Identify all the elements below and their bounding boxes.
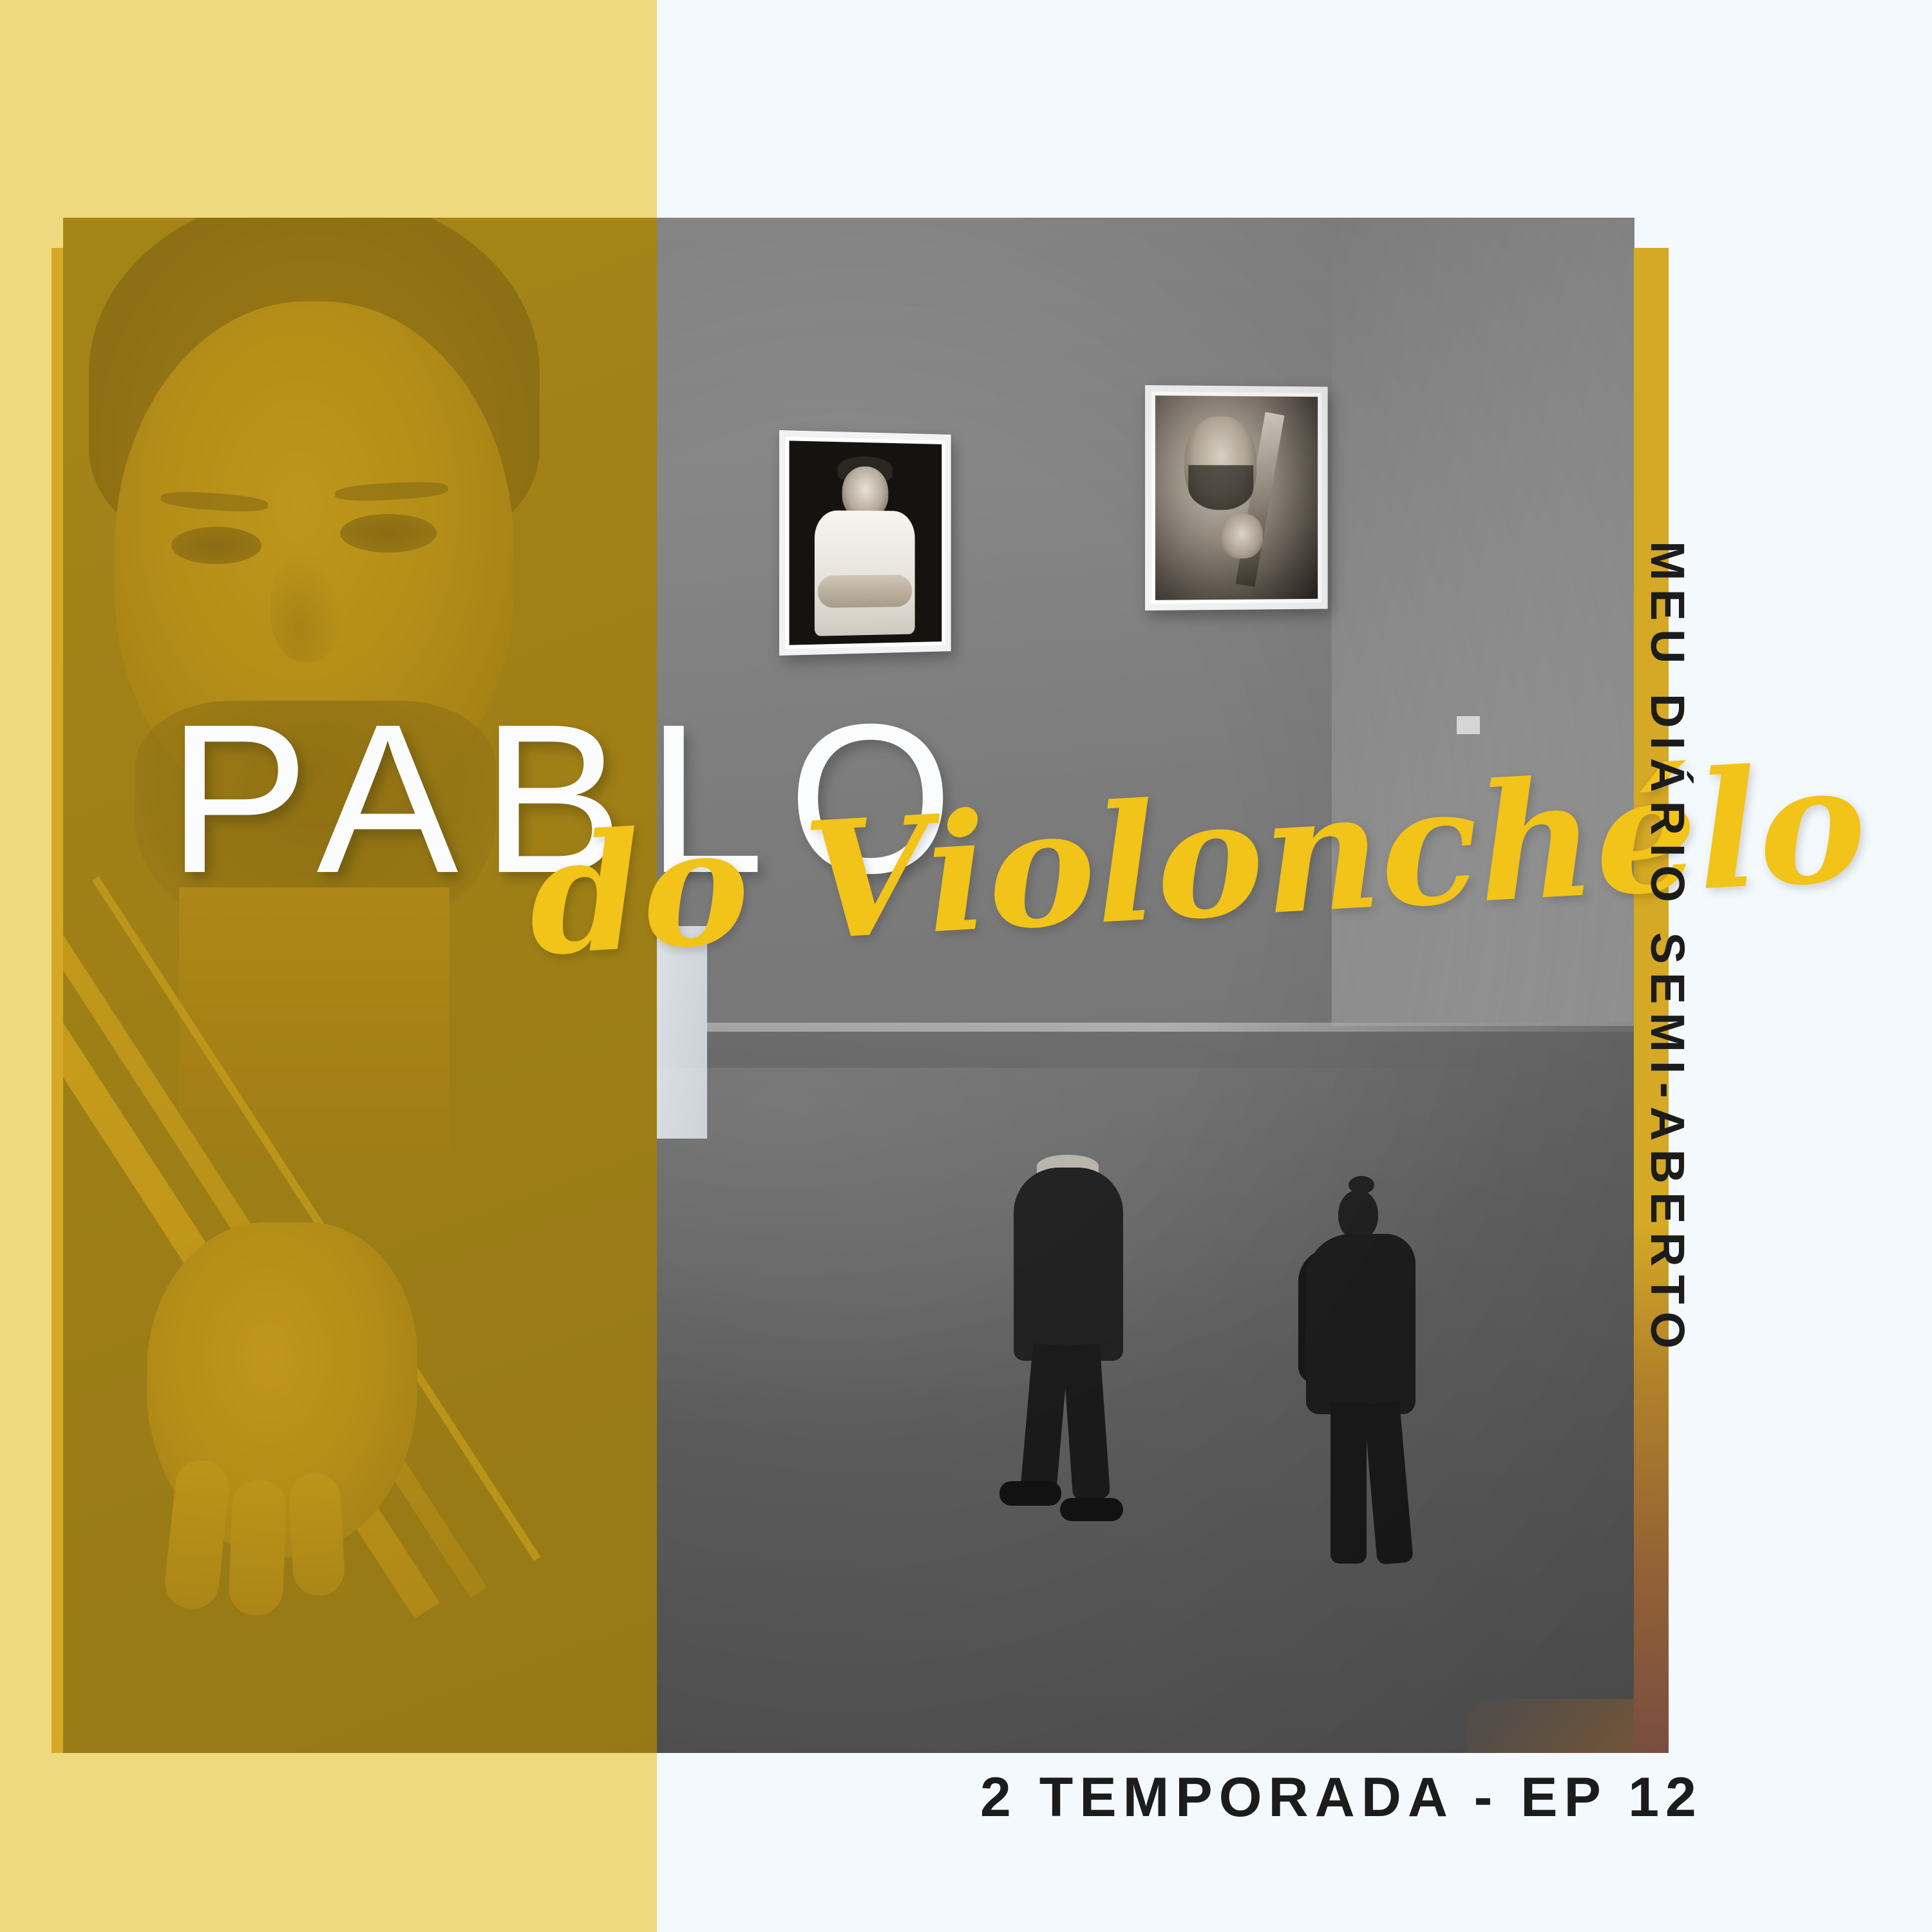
episode-label: 2 TEMPORADA - EP 12 [980, 1766, 1703, 1830]
gallery-photo [63, 218, 1634, 1753]
duotone-gold-wash [63, 218, 657, 1753]
duotone-portrait-overlay [63, 218, 657, 1753]
photo-corner-warm-tint [1467, 1699, 1634, 1753]
vertical-tagline: MEU DIÁRIO SEMI-ABERTO [1640, 541, 1695, 1357]
podcast-cover-art: PABLO do Violonchélo MEU DIÁRIO SEMI-ABE… [0, 0, 1932, 1932]
gallery-photo-scene [63, 218, 1634, 1753]
